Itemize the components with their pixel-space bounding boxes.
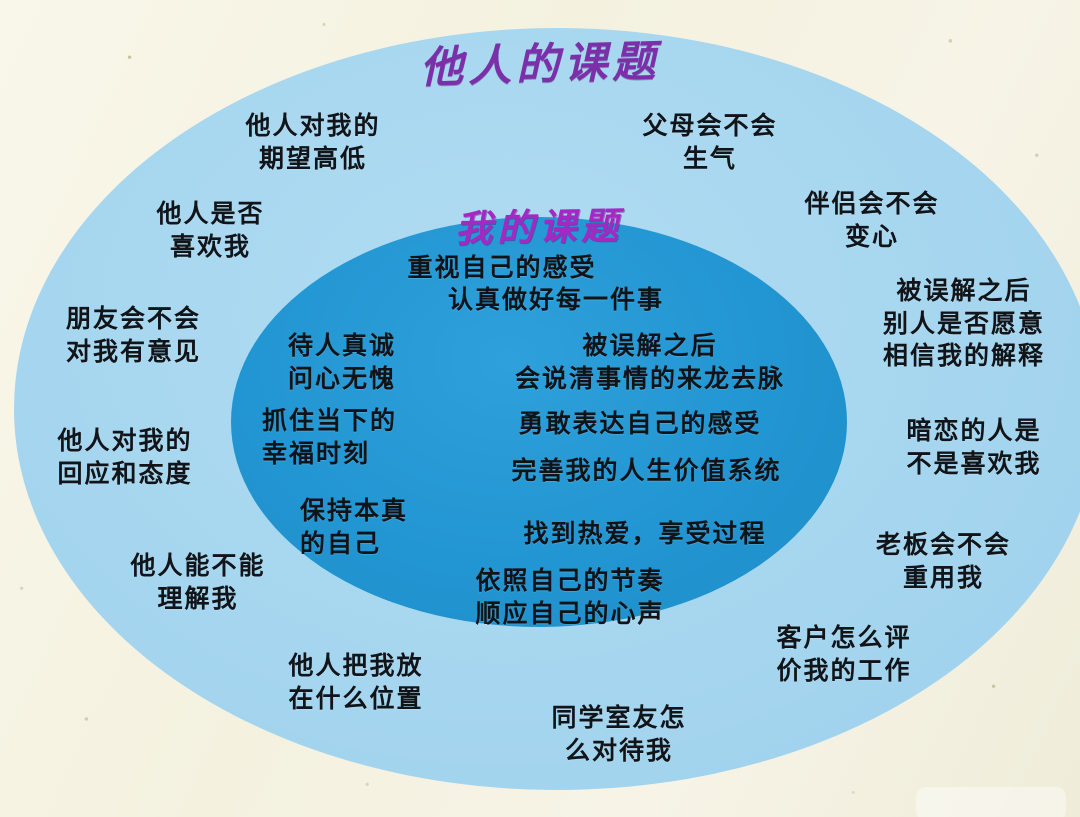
outer-item-believe-explain: 被误解之后 别人是否愿意 相信我的解释 xyxy=(848,275,1080,373)
outer-item-others-response: 他人对我的 回应和态度 xyxy=(25,425,225,490)
outer-item-friends-opinion: 朋友会不会 对我有意见 xyxy=(26,303,241,368)
inner-item-keep-true-self: 保持本真 的自己 xyxy=(300,495,465,560)
infographic-canvas: 他人的课题 我的课题 他人对我的 期望高低 父母会不会 生气 他人是否 喜欢我 … xyxy=(0,0,1080,817)
outer-item-others-like-me: 他人是否 喜欢我 xyxy=(113,198,308,263)
inner-item-own-rhythm-heart: 依照自己的节奏 顺应自己的心声 xyxy=(430,565,710,630)
watermark xyxy=(916,787,1066,817)
inner-item-value-own-feelings: 重视自己的感受 xyxy=(372,252,632,285)
outer-item-client-evaluate: 客户怎么评 价我的工作 xyxy=(744,622,944,687)
inner-item-do-each-thing-well: 认真做好每一件事 xyxy=(406,284,706,317)
inner-item-find-passion-enjoy: 找到热爱，享受过程 xyxy=(480,518,810,551)
inner-item-express-feelings: 勇敢表达自己的感受 xyxy=(470,408,810,441)
outer-item-parents-angry: 父母会不会 生气 xyxy=(600,110,820,175)
inner-item-seize-happy-moments: 抓住当下的 幸福时刻 xyxy=(262,405,447,470)
outer-item-where-others-put: 他人把我放 在什么位置 xyxy=(251,650,461,715)
outer-item-expectations: 他人对我的 期望高低 xyxy=(203,110,423,175)
inner-item-explain-misunderstood: 被误解之后 会说清事情的来龙去脉 xyxy=(470,330,830,395)
outer-item-partner-change: 伴侣会不会 变心 xyxy=(772,188,972,253)
outer-item-classmates-treat: 同学室友怎 么对待我 xyxy=(519,702,719,767)
outer-item-crush-likes-me: 暗恋的人是 不是喜欢我 xyxy=(868,415,1080,480)
outer-item-boss-promote: 老板会不会 重用我 xyxy=(841,529,1046,594)
outer-item-others-understand: 他人能不能 理解我 xyxy=(93,550,303,615)
inner-item-improve-value-system: 完善我的人生价值系统 xyxy=(470,455,823,488)
inner-item-sincere-clear-heart: 待人真诚 问心无愧 xyxy=(288,330,453,395)
